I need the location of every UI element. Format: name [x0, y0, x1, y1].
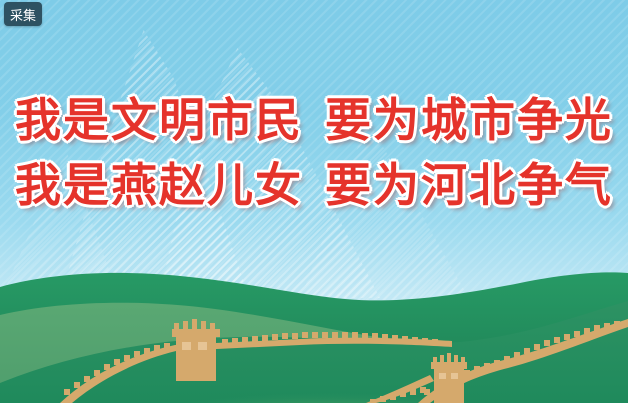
banner-image: 我是文明市民要为城市争光 我是燕赵儿女要为河北争气 采集: [0, 0, 628, 403]
capture-badge-button[interactable]: 采集: [4, 2, 42, 26]
slogan-line-1: 我是文明市民要为城市争光: [0, 88, 628, 153]
capture-badge-label: 采集: [10, 5, 36, 24]
great-wall-tower-right: [431, 353, 467, 403]
slogan-line-2-right: 要为河北争气: [325, 159, 613, 211]
slogan-block: 我是文明市民要为城市争光 我是燕赵儿女要为河北争气: [0, 88, 628, 219]
landscape-illustration: [0, 243, 628, 403]
slogan-line-2: 我是燕赵儿女要为河北争气: [0, 153, 628, 218]
slogan-line-1-left: 我是文明市民: [15, 94, 303, 146]
slogan-line-1-right: 要为城市争光: [325, 94, 613, 146]
slogan-line-2-left: 我是燕赵儿女: [15, 159, 303, 211]
